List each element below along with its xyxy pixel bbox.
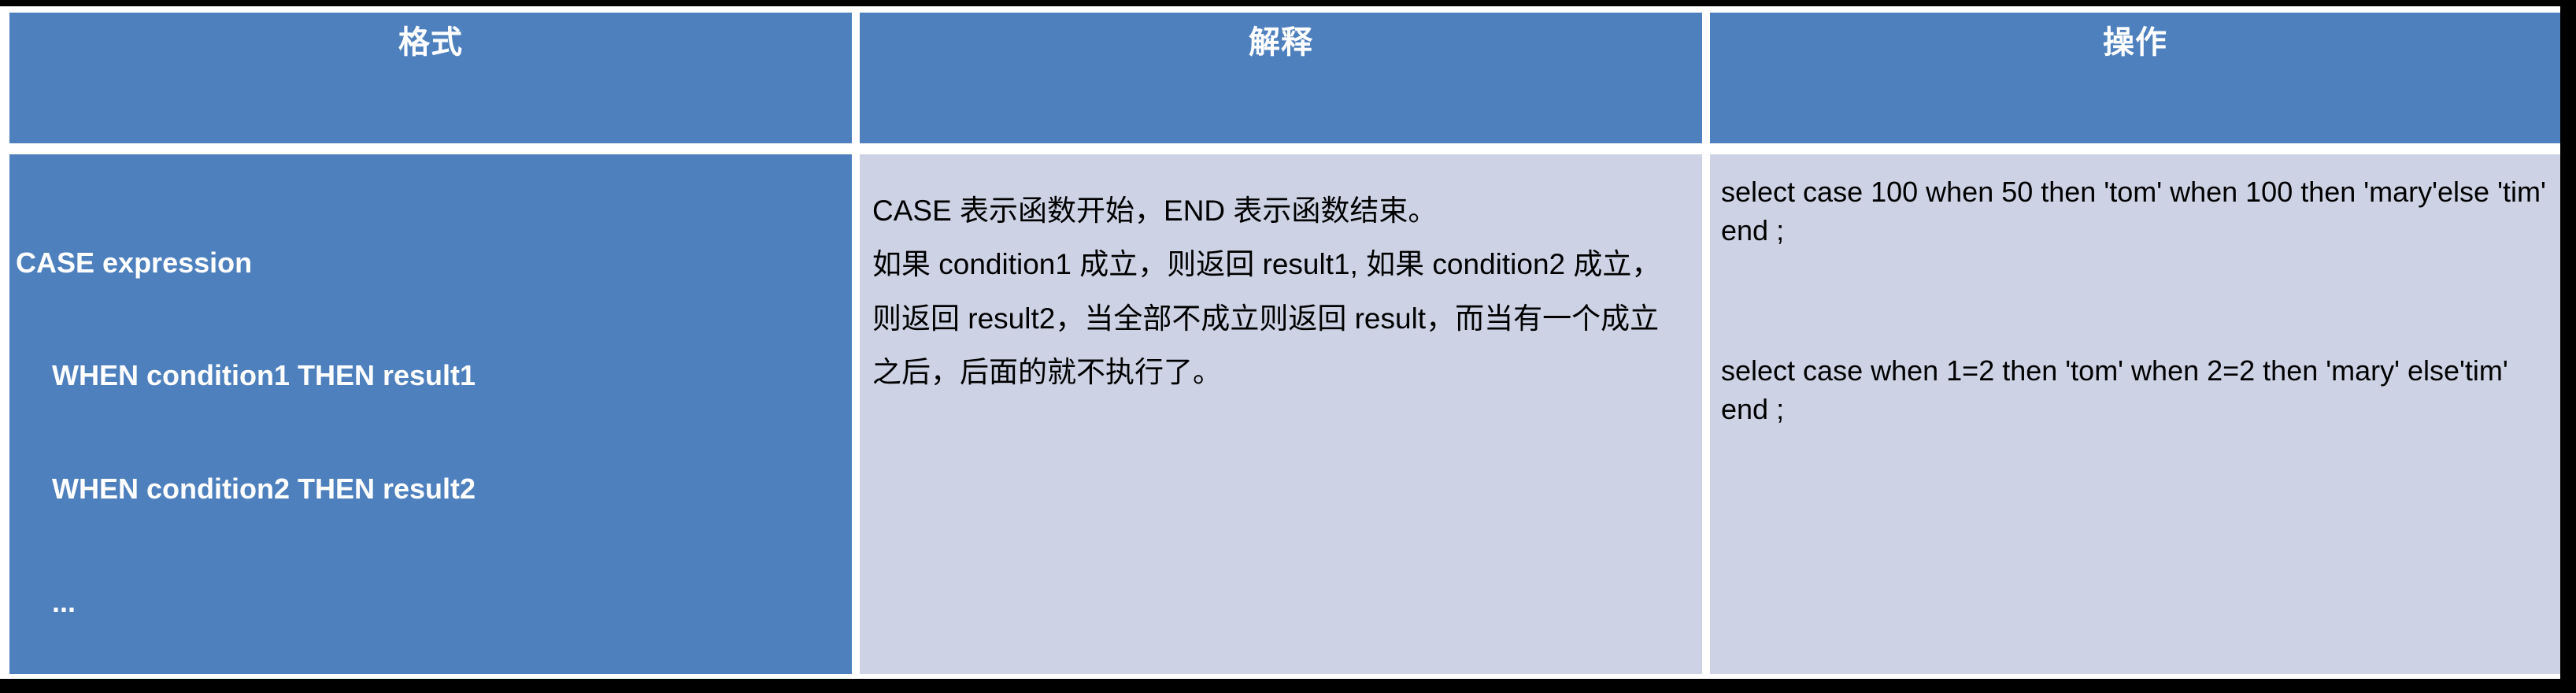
header-cell-operation-fill: 操作	[1710, 13, 2560, 143]
table: 格式 解释 操作 CASE expression	[0, 6, 2560, 679]
syntax-line-ellipsis: ...	[16, 584, 852, 621]
sql-statements-spacer	[1721, 250, 2552, 352]
header-cell-operation: 操作	[1702, 6, 2560, 148]
syntax-reference-table: 格式 解释 操作 CASE expression	[0, 6, 2560, 679]
syntax-line-when-1: WHEN condition1 THEN result1	[16, 357, 852, 395]
header-cell-format: 格式	[0, 6, 852, 148]
body-cell-operation-fill: select case 100 when 50 then 'tom' when …	[1710, 154, 2560, 674]
explanation-paragraph-1: CASE 表示函数开始，END 表示函数结束。	[872, 184, 1683, 238]
column-header-label-format: 格式	[398, 27, 463, 58]
header-cell-explanation: 解释	[852, 6, 1702, 148]
header-cell-explanation-fill: 解释	[860, 13, 1702, 143]
table-row: CASE expression WHEN condition1 THEN res…	[0, 148, 2560, 679]
explanation-text: CASE 表示函数开始，END 表示函数结束。 如果 condition1 成立…	[860, 154, 1702, 400]
table-header-row: 格式 解释 操作	[0, 6, 2560, 148]
column-header-label-explanation: 解释	[1249, 27, 1313, 58]
body-cell-format-fill: CASE expression WHEN condition1 THEN res…	[9, 154, 852, 674]
syntax-line-when-2: WHEN condition2 THEN result2	[16, 470, 852, 508]
body-cell-explanation: CASE 表示函数开始，END 表示函数结束。 如果 condition1 成立…	[852, 148, 1702, 679]
header-cell-format-fill: 格式	[9, 13, 852, 143]
body-cell-format: CASE expression WHEN condition1 THEN res…	[0, 148, 852, 679]
body-cell-explanation-fill: CASE 表示函数开始，END 表示函数结束。 如果 condition1 成立…	[860, 154, 1702, 674]
case-syntax-block: CASE expression WHEN condition1 THEN res…	[9, 154, 852, 679]
sql-statement-2: select case when 1=2 then 'tom' when 2=2…	[1721, 352, 2552, 428]
sql-statement-1: select case 100 when 50 then 'tom' when …	[1721, 173, 2552, 250]
syntax-line-case: CASE expression	[16, 244, 852, 282]
explanation-paragraph-2: 如果 condition1 成立，则返回 result1, 如果 conditi…	[872, 238, 1683, 399]
body-cell-operation: select case 100 when 50 then 'tom' when …	[1702, 148, 2560, 679]
sql-examples-block: select case 100 when 50 then 'tom' when …	[1710, 154, 2560, 428]
column-header-label-operation: 操作	[2103, 27, 2167, 58]
